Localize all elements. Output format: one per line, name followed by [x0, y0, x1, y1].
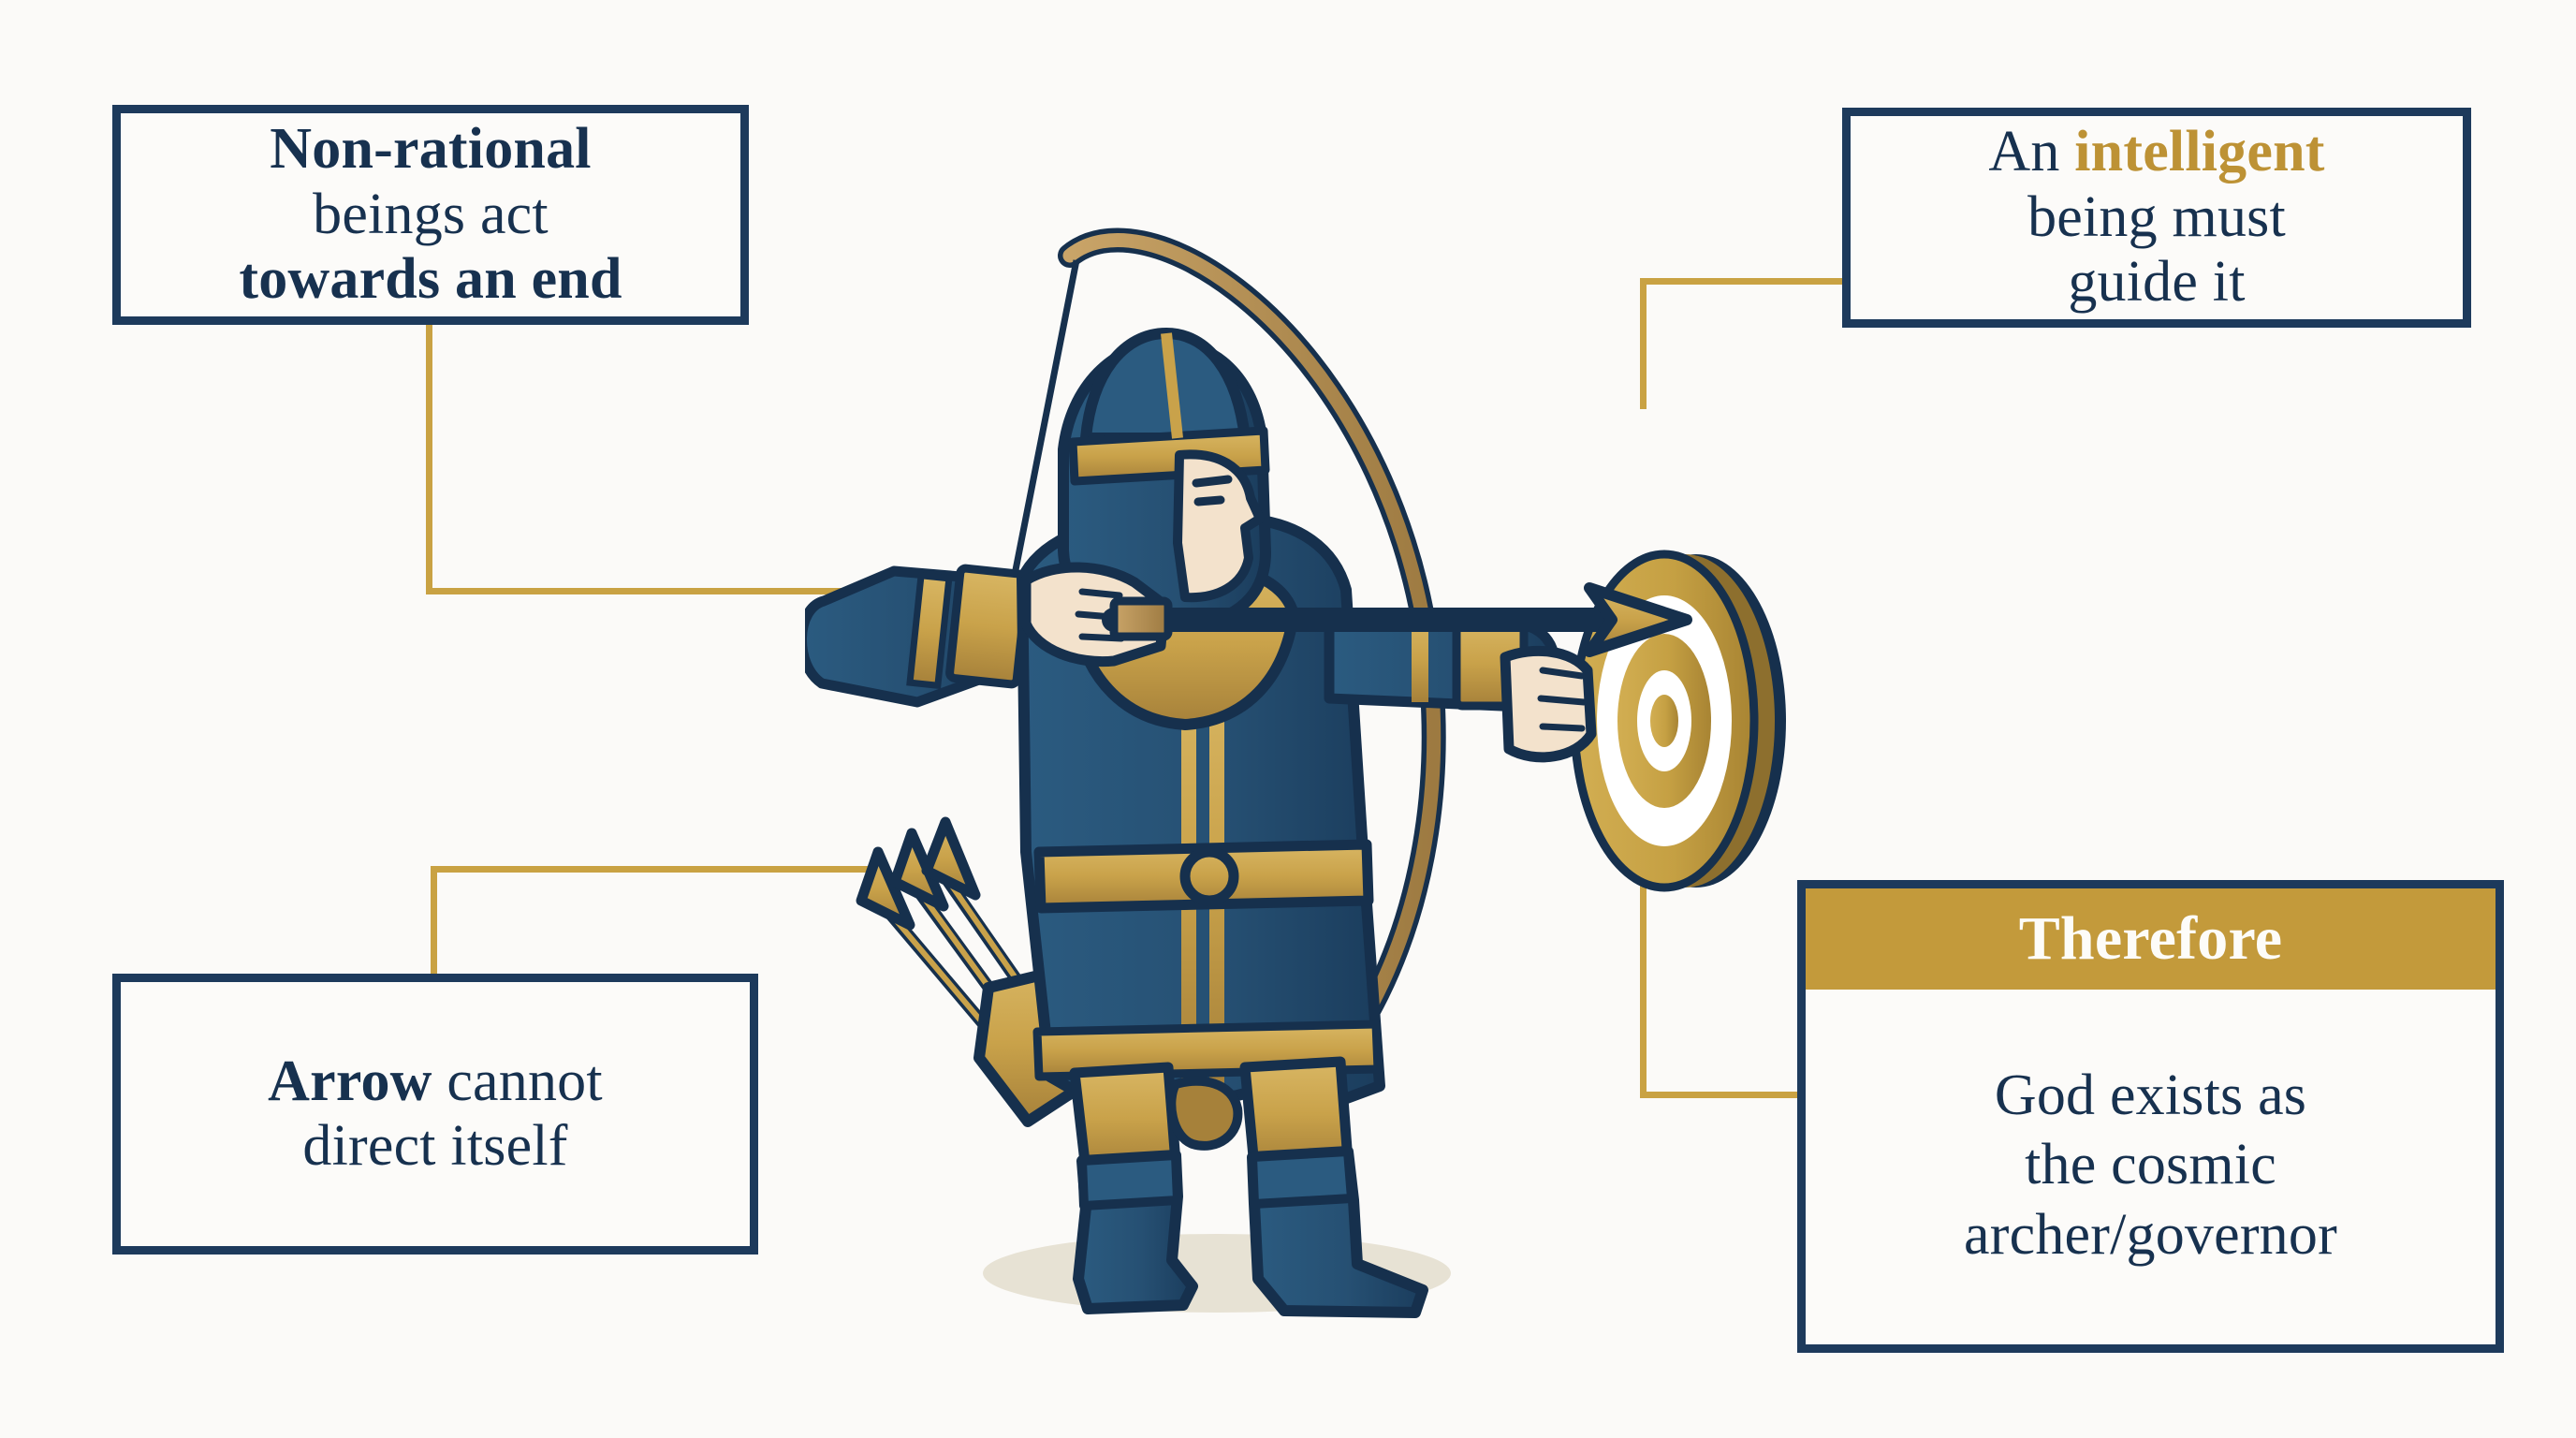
diagram-canvas: Non-rational beings act towards an end A…: [0, 0, 2576, 1438]
premise-box-intelligent-guide[interactable]: An intelligent being must guide it: [1842, 108, 2471, 328]
connector-bottom-left-vertical: [431, 866, 437, 976]
connector-top-left-horizontal: [426, 588, 856, 594]
connector-top-left-vertical: [426, 325, 432, 594]
premise-box-non-rational[interactable]: Non-rational beings act towards an end: [112, 105, 749, 325]
premise-bl-line1-rest: cannot: [432, 1049, 603, 1113]
conclusion-line3: archer/governor: [1806, 1200, 2495, 1269]
premise-tr-line1: An intelligent: [1851, 120, 2463, 184]
premise-bl-line1: Arrow cannot: [121, 1049, 750, 1114]
conclusion-line2: the cosmic: [1806, 1130, 2495, 1199]
conclusion-box-god-exists[interactable]: Therefore God exists as the cosmic arche…: [1797, 880, 2504, 1353]
premise-tr-line3: guide it: [1851, 250, 2463, 315]
premise-bl-line2: direct itself: [121, 1114, 750, 1179]
archer-back-arm: [805, 568, 1028, 702]
conclusion-body: God exists as the cosmic archer/governor: [1806, 990, 2495, 1344]
premise-tl-line1: Non-rational: [121, 117, 740, 182]
premise-box-arrow-cannot-direct[interactable]: Arrow cannot direct itself: [112, 974, 758, 1255]
bow-hand: [1505, 651, 1591, 756]
conclusion-line1: God exists as: [1806, 1061, 2495, 1130]
conclusion-header-label: Therefore: [1806, 904, 2495, 974]
premise-tr-line2: being must: [1851, 185, 2463, 250]
premise-tr-line1-gold: intelligent: [2074, 120, 2324, 183]
premise-tl-line3: towards an end: [121, 247, 740, 312]
archer-illustration: [805, 140, 1797, 1348]
premise-tl-line2: beings act: [121, 183, 740, 247]
premise-bl-line1-bold: Arrow: [268, 1049, 432, 1113]
conclusion-header-band: Therefore: [1806, 888, 2495, 990]
premise-tr-line1-prefix: An: [1988, 120, 2074, 183]
